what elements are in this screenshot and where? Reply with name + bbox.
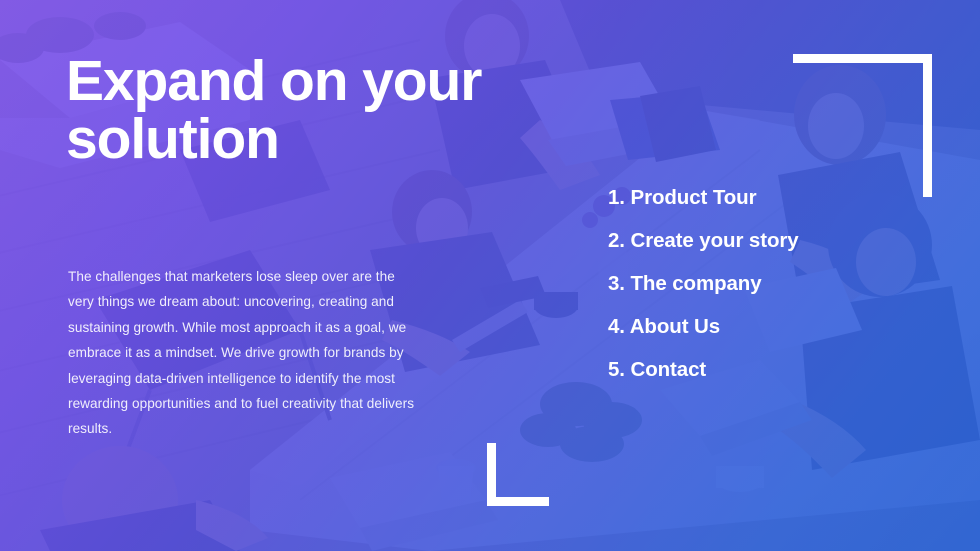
corner-bracket-top-right-icon xyxy=(793,54,932,197)
agenda-item-contact[interactable]: 5. Contact xyxy=(608,348,799,391)
agenda-item-about-us[interactable]: 4. About Us xyxy=(608,305,799,348)
presentation-slide: Expand on your solution The challenges t… xyxy=(0,0,980,551)
agenda-list: 1. Product Tour 2. Create your story 3. … xyxy=(608,176,799,391)
body-paragraph: The challenges that marketers lose sleep… xyxy=(68,264,418,442)
agenda-item-product-tour[interactable]: 1. Product Tour xyxy=(608,176,799,219)
page-title: Expand on your solution xyxy=(66,52,486,168)
corner-bracket-bottom-left-icon xyxy=(487,443,549,506)
agenda-item-create-your-story[interactable]: 2. Create your story xyxy=(608,219,799,262)
slide-content: Expand on your solution The challenges t… xyxy=(0,0,980,551)
agenda-item-the-company[interactable]: 3. The company xyxy=(608,262,799,305)
